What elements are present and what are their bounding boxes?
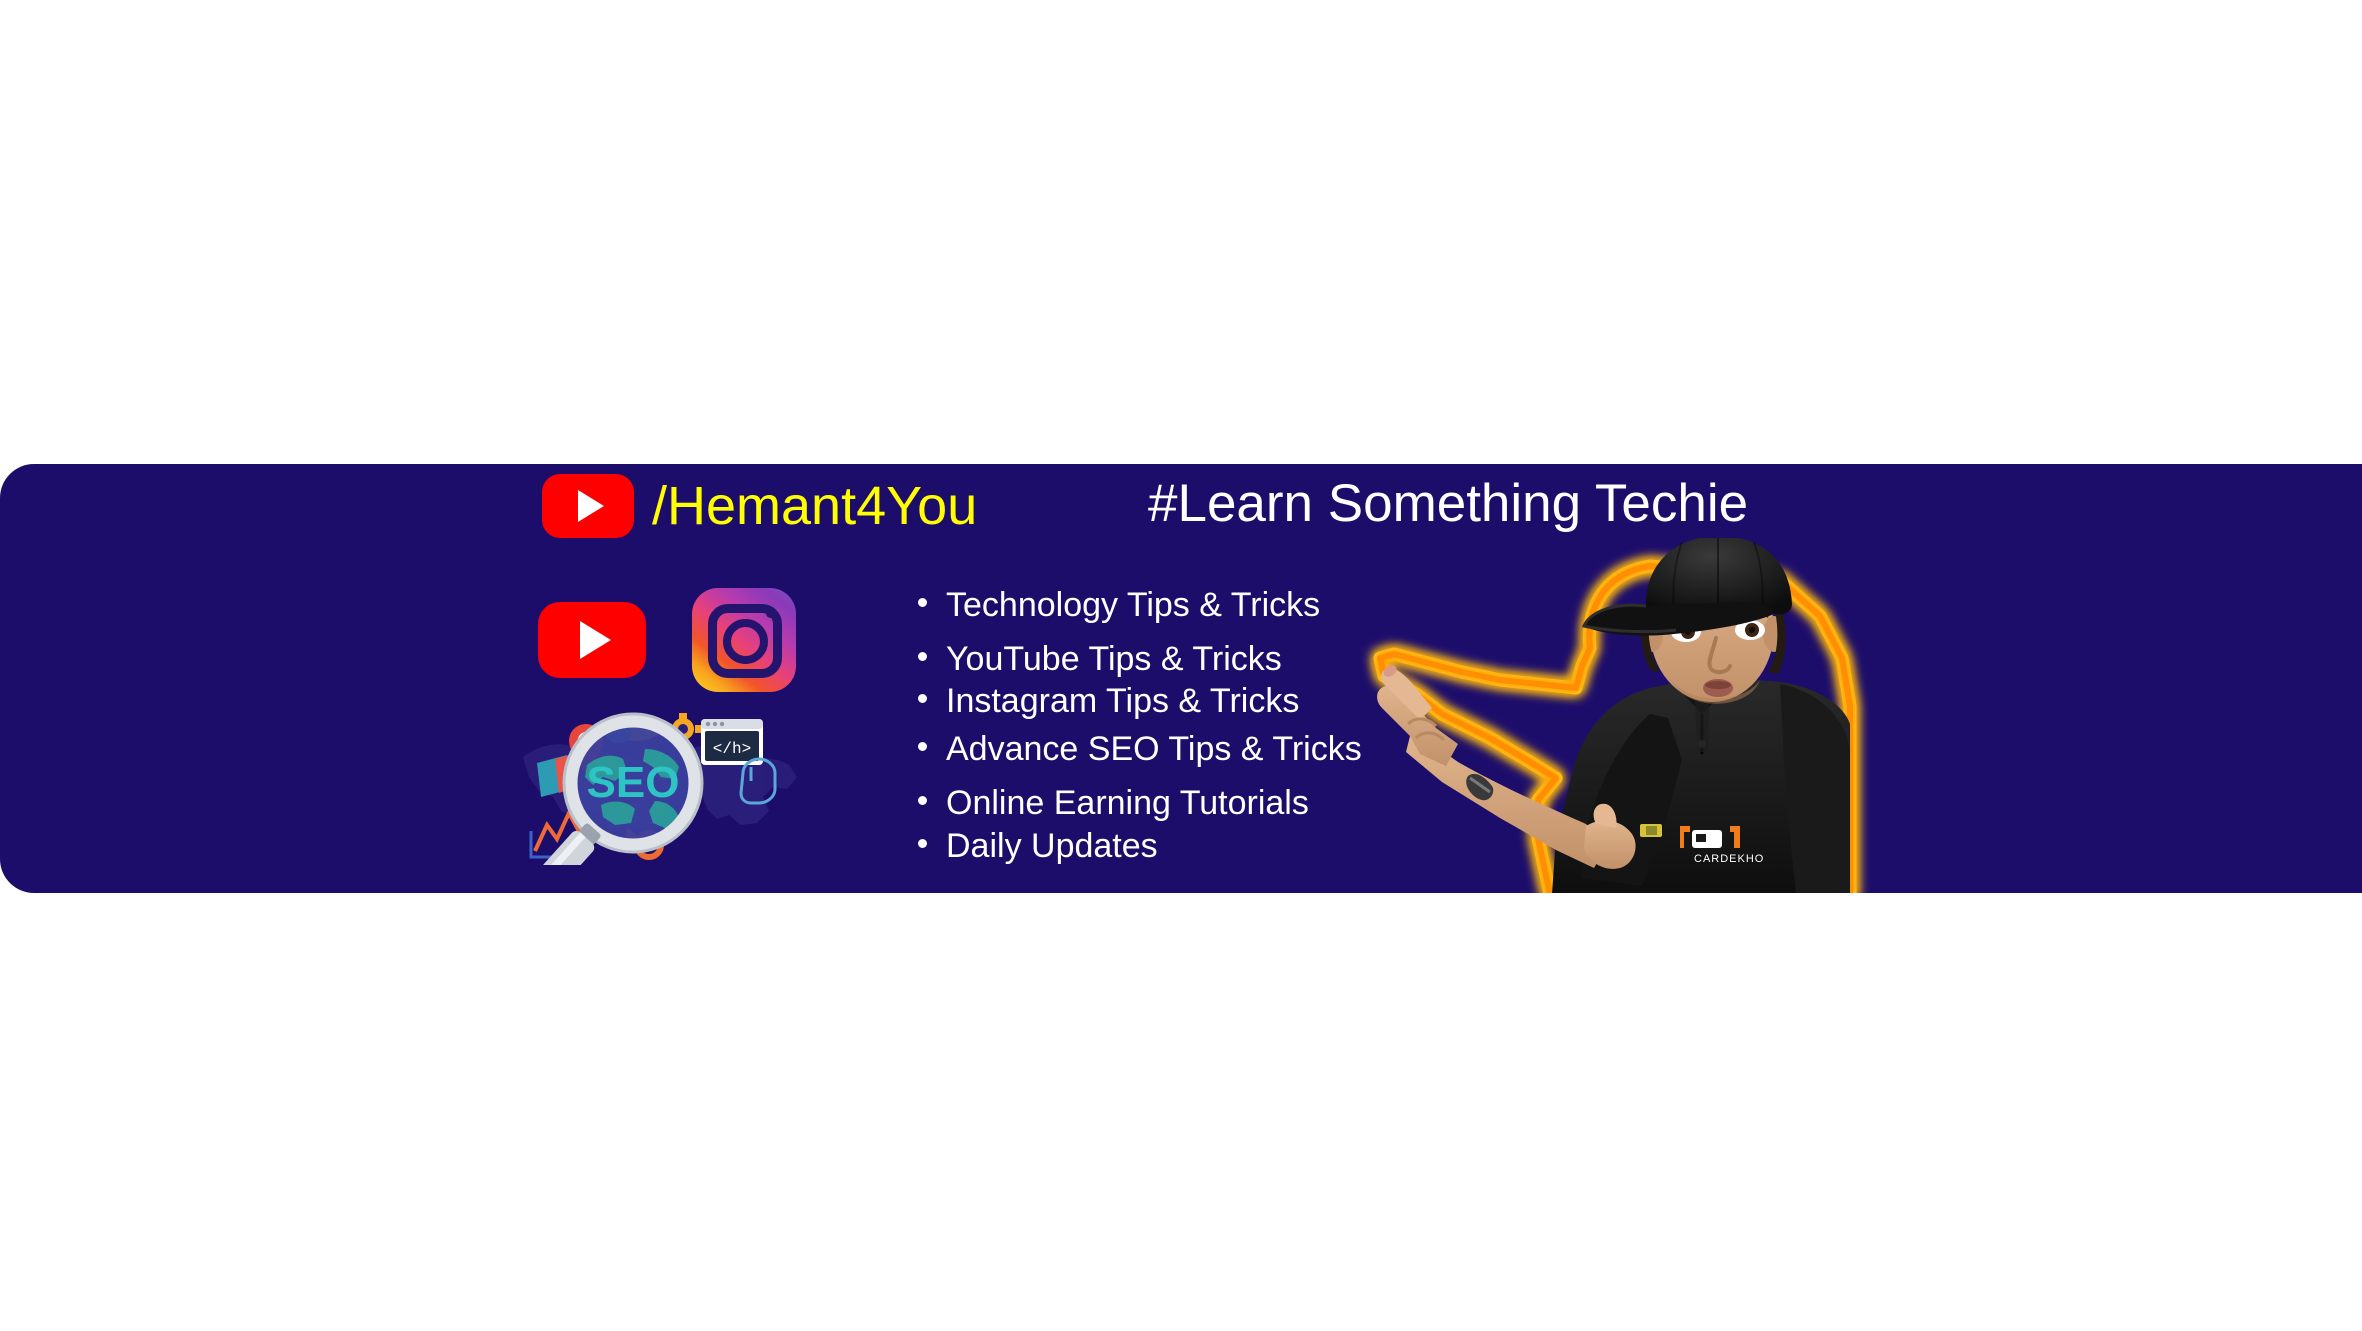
channel-tagline: #Learn Something Techie bbox=[1148, 477, 1748, 530]
instagram-lens-icon bbox=[723, 619, 768, 664]
list-item-label: YouTube Tips & Tricks bbox=[946, 642, 1282, 676]
bullet-dot-icon bbox=[918, 839, 927, 848]
channel-brand[interactable]: /Hemant4You bbox=[542, 474, 977, 538]
play-triangle-icon bbox=[580, 621, 611, 659]
bullet-dot-icon bbox=[918, 652, 927, 661]
list-item-label: Advance SEO Tips & Tricks bbox=[946, 732, 1362, 766]
svg-text:CARDEKHO: CARDEKHO bbox=[1694, 853, 1764, 865]
list-item-label: Technology Tips & Tricks bbox=[946, 588, 1320, 622]
seo-label: SEO bbox=[587, 758, 680, 807]
bullet-dot-icon bbox=[918, 694, 927, 703]
channel-banner: /Hemant4You #Learn Something Techie bbox=[0, 464, 2362, 893]
list-item-label: Online Earning Tutorials bbox=[946, 786, 1309, 820]
presenter-photo: CARDEKHO bbox=[1350, 538, 1870, 893]
bullet-dot-icon bbox=[918, 598, 927, 607]
bullet-dot-icon bbox=[918, 742, 927, 751]
seo-code-label: </h> bbox=[713, 740, 751, 758]
channel-handle: /Hemant4You bbox=[652, 479, 977, 533]
page-canvas: /Hemant4You #Learn Something Techie bbox=[0, 0, 2362, 1331]
youtube-icon[interactable] bbox=[538, 602, 646, 678]
instagram-dot-icon bbox=[766, 609, 775, 618]
seo-graphic: </h> bbox=[515, 705, 805, 865]
list-item-label: Daily Updates bbox=[946, 829, 1158, 863]
youtube-play-icon[interactable] bbox=[542, 474, 634, 538]
instagram-camera-icon[interactable] bbox=[692, 588, 796, 692]
social-icons-row bbox=[538, 588, 796, 692]
list-item-label: Instagram Tips & Tricks bbox=[946, 684, 1299, 718]
play-triangle-icon bbox=[578, 490, 604, 522]
bullet-dot-icon bbox=[918, 796, 927, 805]
